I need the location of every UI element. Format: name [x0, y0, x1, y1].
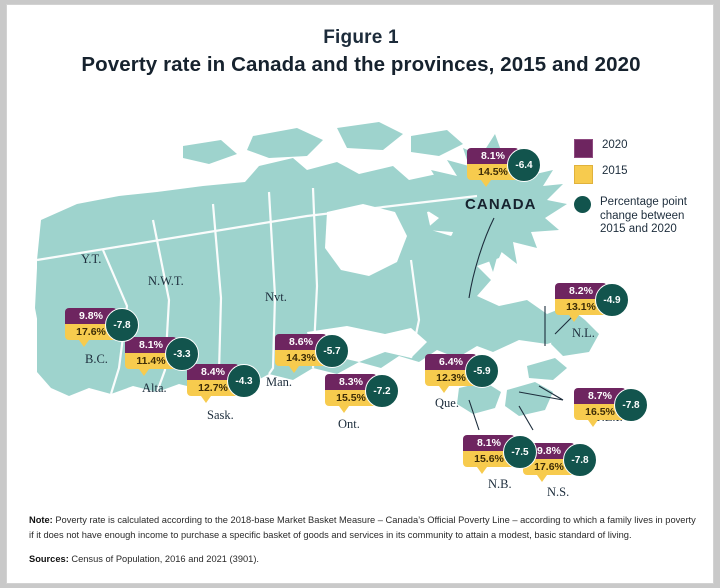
map-label-qc: Que. — [435, 396, 459, 411]
legend-label-2015: 2015 — [602, 165, 628, 179]
badge-pointer — [201, 396, 211, 403]
badge-pointer — [439, 386, 449, 393]
value-badge-mb[interactable]: 8.6% 14.3% -5.7 — [275, 334, 327, 366]
legend-item-2020[interactable]: 2020 — [574, 139, 704, 158]
badge-change: -7.8 — [105, 308, 139, 342]
note-label: Note: — [29, 515, 53, 525]
map-label-nwt: N.W.T. — [148, 274, 184, 289]
sources-block: Sources: Census of Population, 2016 and … — [29, 552, 697, 567]
map-label-ns: N.S. — [547, 485, 569, 500]
legend-swatch-2020-icon — [574, 139, 593, 158]
badge-change: -4.9 — [595, 283, 629, 317]
figure-page: Figure 1 Poverty rate in Canada and the … — [6, 4, 714, 584]
badge-pointer — [79, 340, 89, 347]
value-badge-nl[interactable]: 8.2% 13.1% -4.9 — [555, 283, 607, 315]
badge-pointer — [289, 366, 299, 373]
value-badge-nb[interactable]: 8.1% 15.6% -7.5 — [463, 435, 515, 467]
map-label-canada: CANADA — [465, 196, 537, 213]
badge-pointer — [339, 406, 349, 413]
badge-pointer — [537, 475, 547, 482]
legend-swatch-2015-icon — [574, 165, 593, 184]
map-label-on: Ont. — [338, 417, 360, 432]
badge-change: -7.8 — [614, 388, 648, 422]
badge-pointer — [139, 369, 149, 376]
legend-label-2020: 2020 — [602, 139, 628, 153]
value-badge-pe[interactable]: 8.7% 16.5% -7.8 — [574, 388, 626, 420]
legend-label-change: Percentage point change between 2015 and… — [600, 196, 704, 237]
badge-change: -6.4 — [507, 148, 541, 182]
map-label-mb: Man. — [266, 375, 292, 390]
value-badge-on[interactable]: 8.3% 15.5% -7.2 — [325, 374, 377, 406]
badge-pointer — [569, 315, 579, 322]
note-text: Poverty rate is calculated according to … — [29, 515, 696, 540]
badge-change: -4.3 — [227, 364, 261, 398]
badge-pointer — [588, 420, 598, 427]
badge-change: -7.8 — [563, 443, 597, 477]
value-badge-sk[interactable]: 8.4% 12.7% -4.3 — [187, 364, 239, 396]
badge-change: -3.3 — [165, 337, 199, 371]
note-block: Note: Poverty rate is calculated accordi… — [29, 513, 697, 542]
value-badge-qc[interactable]: 6.4% 12.3% -5.9 — [425, 354, 477, 386]
map-label-sk: Sask. — [207, 408, 234, 423]
badge-pointer — [477, 467, 487, 474]
badge-pointer — [481, 180, 491, 187]
badge-change: -7.5 — [503, 435, 537, 469]
map-label-nb: N.B. — [488, 477, 512, 492]
legend: 2020 2015 Percentage point change betwee… — [574, 139, 704, 244]
badge-change: -5.7 — [315, 334, 349, 368]
map-label-bc: B.C. — [85, 352, 108, 367]
page-title: Poverty rate in Canada and the provinces… — [7, 53, 714, 77]
map-label-ab: Alta. — [142, 381, 167, 396]
map-label-yt: Y.T. — [81, 252, 101, 267]
footnotes: Note: Poverty rate is calculated accordi… — [29, 513, 697, 567]
map-label-nvt: Nvt. — [265, 290, 287, 305]
legend-swatch-change-icon — [574, 196, 591, 213]
legend-item-2015[interactable]: 2015 — [574, 165, 704, 184]
figure-label: Figure 1 — [7, 27, 714, 49]
value-badge-canada[interactable]: 8.1% 14.5% -6.4 — [467, 148, 519, 180]
value-badge-ab[interactable]: 8.1% 11.4% -3.3 — [125, 337, 177, 369]
legend-item-change[interactable]: Percentage point change between 2015 and… — [574, 196, 704, 237]
title-block: Figure 1 Poverty rate in Canada and the … — [7, 27, 714, 77]
sources-text: Census of Population, 2016 and 2021 (390… — [69, 554, 259, 564]
sources-label: Sources: — [29, 554, 69, 564]
badge-change: -5.9 — [465, 354, 499, 388]
map-label-nl: N.L. — [572, 326, 595, 341]
badge-change: -7.2 — [365, 374, 399, 408]
value-badge-bc[interactable]: 9.8% 17.6% -7.8 — [65, 308, 117, 340]
